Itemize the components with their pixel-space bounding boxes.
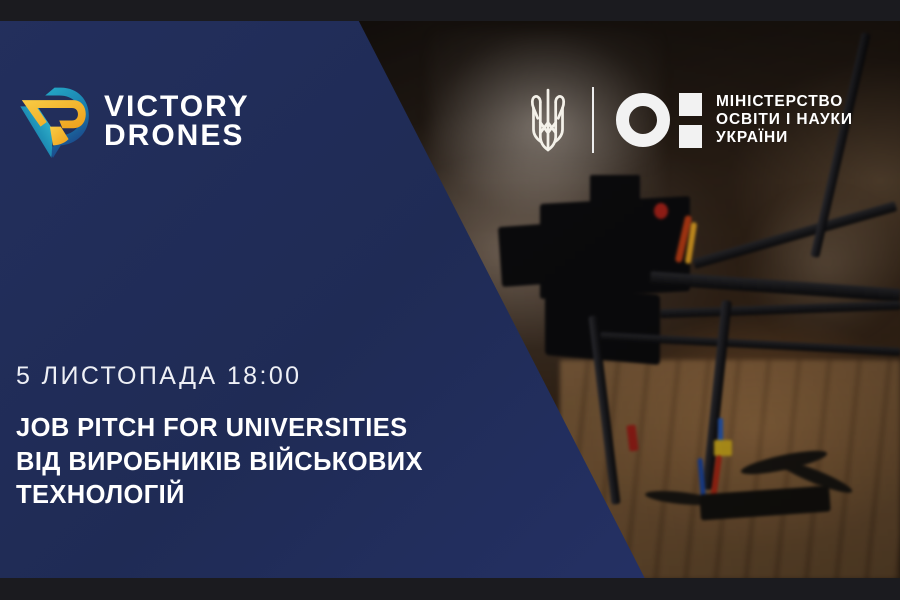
ministry-line-2: ОСВІТИ І НАУКИ	[716, 111, 853, 129]
event-title-line-1: JOB PITCH FOR UNIVERSITIES	[16, 412, 423, 446]
mon-squares-group	[679, 93, 702, 148]
event-title-line-3: ТЕХНОЛОГІЙ	[16, 479, 423, 513]
ministry-logo-lockup: МІНІСТЕРСТВО ОСВІТИ І НАУКИ УКРАЇНИ	[522, 80, 853, 160]
event-poster: VICTORY DRONES	[0, 0, 900, 600]
top-letterbox-bar	[0, 0, 900, 21]
bottom-letterbox-bar	[0, 578, 900, 600]
ministry-line-1: МІНІСТЕРСТВО	[716, 93, 853, 111]
mon-square-top	[679, 93, 702, 116]
mon-ring-shape	[616, 93, 670, 147]
victory-drones-logo: VICTORY DRONES	[14, 74, 244, 170]
event-date: 5 ЛИСТОПАДА 18:00	[16, 362, 301, 391]
event-title-line-2: ВІД ВИРОБНИКІВ ВІЙСЬКОВИХ	[16, 446, 423, 480]
victory-drones-wordmark: VICTORY DRONES	[104, 93, 250, 151]
ministry-line-3: УКРАЇНИ	[716, 129, 853, 147]
logo-line-victory: VICTORY	[104, 93, 250, 122]
ukraine-trident-icon	[522, 85, 574, 155]
event-title: JOB PITCH FOR UNIVERSITIES ВІД ВИРОБНИКІ…	[16, 412, 423, 513]
mon-ring-squares-icon	[616, 93, 702, 148]
ministry-name: МІНІСТЕРСТВО ОСВІТИ І НАУКИ УКРАЇНИ	[716, 93, 853, 148]
ministry-divider	[592, 87, 594, 153]
mon-square-bottom	[679, 125, 702, 148]
victory-drones-mark-icon	[14, 81, 92, 163]
logo-line-drones: DRONES	[104, 122, 250, 151]
